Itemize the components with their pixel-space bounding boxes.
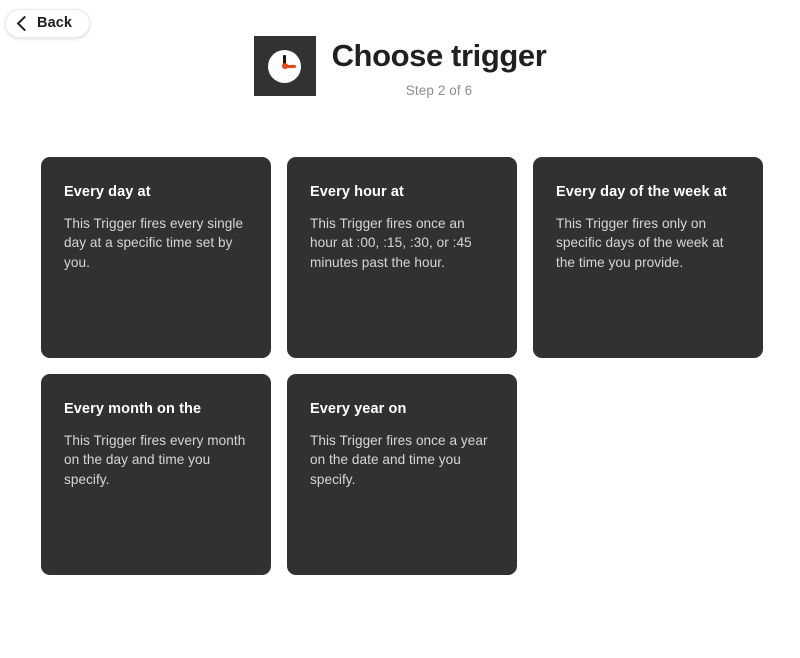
header-inner: Choose trigger Step 2 of 6 [254, 36, 547, 98]
clock-pivot [282, 63, 288, 69]
back-button[interactable]: Back [5, 9, 90, 38]
clock-icon [254, 36, 316, 96]
trigger-card-every-year-on[interactable]: Every year on This Trigger fires once a … [287, 374, 517, 575]
step-indicator: Step 2 of 6 [406, 83, 472, 98]
trigger-card-every-day-at[interactable]: Every day at This Trigger fires every si… [41, 157, 271, 358]
trigger-card-every-hour-at[interactable]: Every hour at This Trigger fires once an… [287, 157, 517, 358]
trigger-card-description: This Trigger fires every single day at a… [64, 214, 249, 272]
trigger-card-title: Every hour at [310, 182, 495, 202]
trigger-card-every-month-on-the[interactable]: Every month on the This Trigger fires ev… [41, 374, 271, 575]
trigger-card-title: Every month on the [64, 399, 249, 419]
title-block: Choose trigger Step 2 of 6 [332, 36, 547, 98]
chevron-left-icon [17, 16, 33, 32]
page-title: Choose trigger [332, 37, 547, 74]
trigger-card-description: This Trigger fires once a year on the da… [310, 431, 495, 489]
trigger-card-title: Every year on [310, 399, 495, 419]
clock-face [268, 50, 301, 83]
trigger-card-description: This Trigger fires only on specific days… [556, 214, 741, 272]
page-header: Choose trigger Step 2 of 6 [0, 36, 800, 98]
trigger-card-description: This Trigger fires every month on the da… [64, 431, 249, 489]
trigger-card-description: This Trigger fires once an hour at :00, … [310, 214, 495, 272]
trigger-card-every-day-of-the-week-at[interactable]: Every day of the week at This Trigger fi… [533, 157, 763, 358]
back-button-label: Back [37, 16, 72, 31]
trigger-card-grid: Every day at This Trigger fires every si… [41, 157, 763, 575]
trigger-card-title: Every day of the week at [556, 182, 741, 202]
trigger-card-title: Every day at [64, 182, 249, 202]
